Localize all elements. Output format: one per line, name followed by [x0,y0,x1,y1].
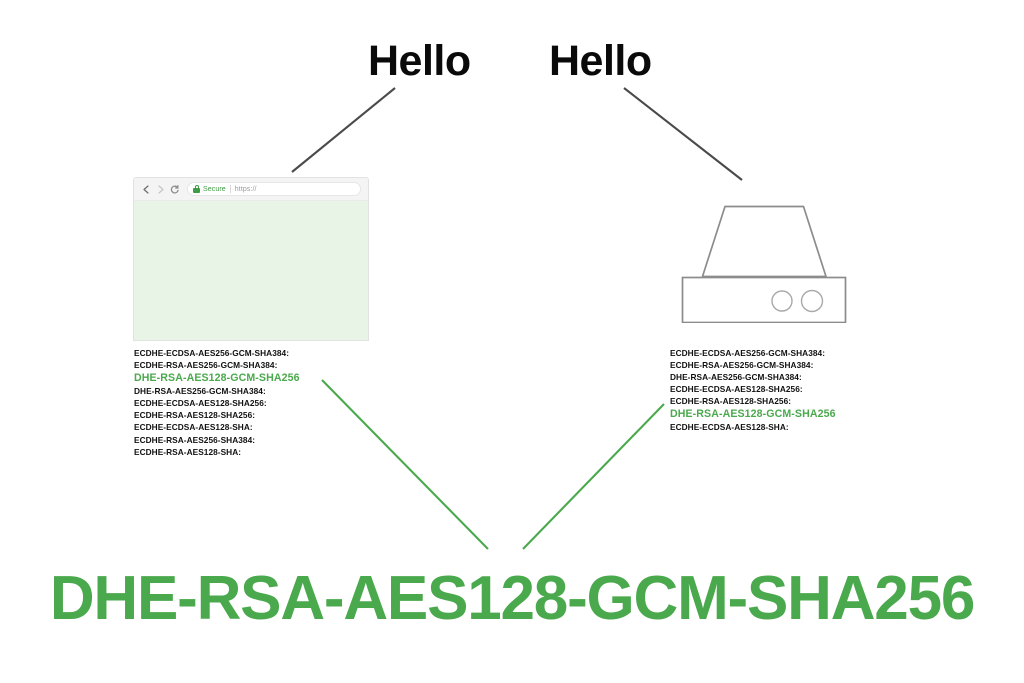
server-cipher-row: ECDHE-ECDSA-AES256-GCM-SHA384: [670,347,836,359]
url-bar-separator [230,185,231,193]
server-hello-connector [624,88,742,180]
server-hello-label: Hello [549,40,652,83]
server-cipher-connector [523,404,664,549]
client-cipher-list: ECDHE-ECDSA-AES256-GCM-SHA384:ECDHE-RSA-… [134,347,300,458]
server-appliance-icon [676,193,851,323]
server-cipher-row: ECDHE-RSA-AES256-GCM-SHA384: [670,359,836,371]
lock-icon [193,185,200,193]
secure-badge-label: Secure [203,186,226,193]
server-cipher-list: ECDHE-ECDSA-AES256-GCM-SHA384:ECDHE-RSA-… [670,347,836,434]
client-cipher-row: DHE-RSA-AES256-GCM-SHA384: [134,385,300,397]
server-top-face [703,207,827,277]
client-hello-connector [292,88,395,172]
browser-toolbar: Secure https:// [134,178,368,200]
browser-window: Secure https:// [133,177,369,341]
client-cipher-row: ECDHE-RSA-AES128-SHA: [134,446,300,458]
server-cipher-row-selected: DHE-RSA-AES128-GCM-SHA256 [670,407,836,421]
client-cipher-row-selected: DHE-RSA-AES128-GCM-SHA256 [134,371,300,385]
client-cipher-row: ECDHE-ECDSA-AES128-SHA256: [134,397,300,409]
negotiated-cipher-result: DHE-RSA-AES128-GCM-SHA256 [0,568,1024,630]
forward-arrow-icon[interactable] [154,183,167,196]
client-cipher-row: ECDHE-RSA-AES256-GCM-SHA384: [134,359,300,371]
server-cipher-row: DHE-RSA-AES256-GCM-SHA384: [670,371,836,383]
server-cipher-row: ECDHE-RSA-AES128-SHA256: [670,395,836,407]
reload-icon[interactable] [168,183,181,196]
back-arrow-icon[interactable] [140,183,153,196]
client-cipher-row: ECDHE-ECDSA-AES256-GCM-SHA384: [134,347,300,359]
browser-viewport [134,200,368,341]
server-indicator-right [802,291,823,312]
server-cipher-row: ECDHE-ECDSA-AES128-SHA256: [670,383,836,395]
url-text[interactable]: https:// [235,186,257,193]
client-cipher-row: ECDHE-RSA-AES256-SHA384: [134,434,300,446]
url-bar[interactable]: Secure https:// [187,182,361,196]
server-cipher-row: ECDHE-ECDSA-AES128-SHA: [670,421,836,433]
server-indicator-left [772,291,792,311]
client-cipher-row: ECDHE-RSA-AES128-SHA256: [134,409,300,421]
client-cipher-connector [322,380,488,549]
client-hello-label: Hello [368,40,471,83]
diagram-canvas: Hello Hello [0,0,1024,683]
client-cipher-row: ECDHE-ECDSA-AES128-SHA: [134,421,300,433]
